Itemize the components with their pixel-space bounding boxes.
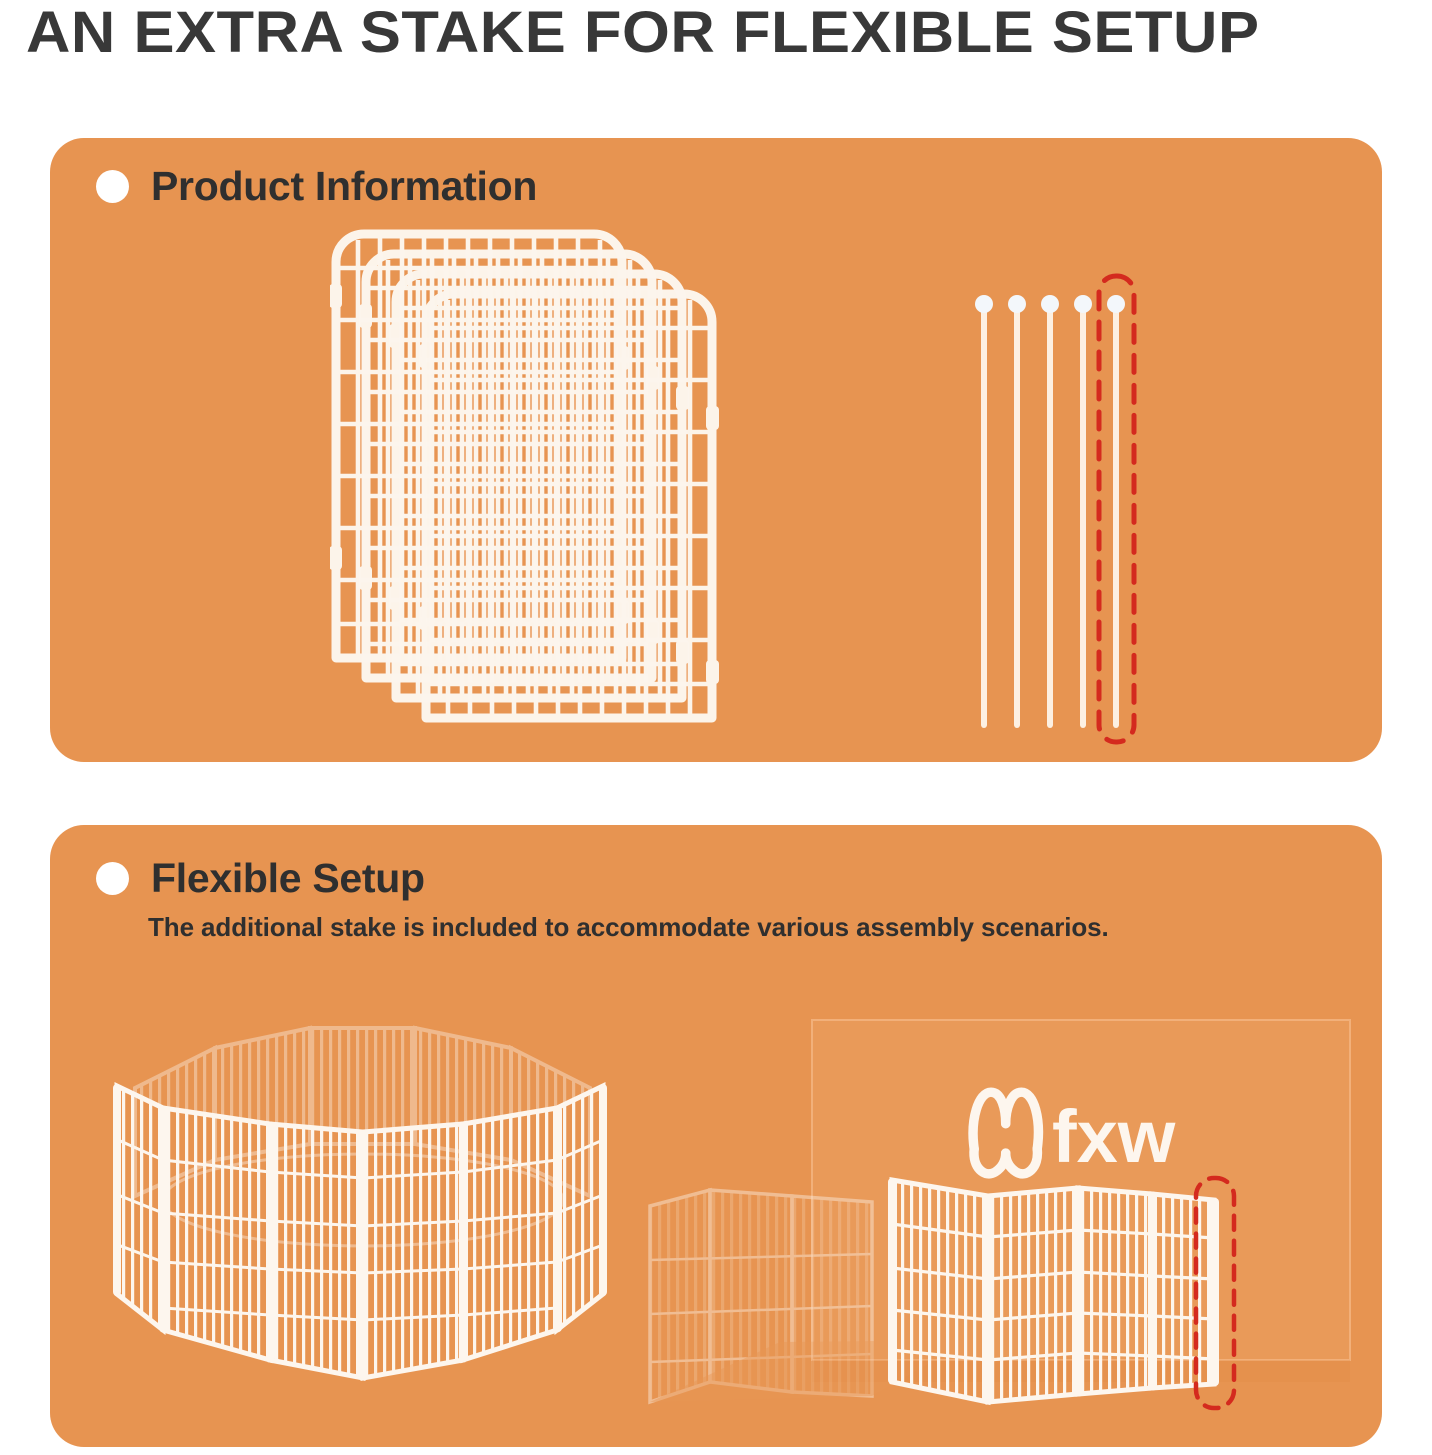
flexible-setup-title: Flexible Setup <box>151 855 425 902</box>
infographic-page: AN EXTRA STAKE FOR FLEXIBLE SETUP Produc… <box>0 0 1432 1455</box>
product-information-title: Product Information <box>151 163 537 210</box>
ground-stakes-illustration <box>955 262 1165 752</box>
wall-setup-illustration: fxw <box>640 1010 1360 1425</box>
flexible-setup-subtitle: The additional stake is included to acco… <box>148 912 1109 943</box>
product-information-heading: Product Information <box>96 163 537 210</box>
flexible-setup-heading: Flexible Setup <box>96 855 425 902</box>
bullet-dot-icon <box>96 170 129 203</box>
stacked-mesh-panels-illustration <box>330 228 730 728</box>
fxw-wordmark: fxw <box>1052 1095 1176 1178</box>
octagonal-playpen-illustration <box>95 1000 635 1415</box>
page-title: AN EXTRA STAKE FOR FLEXIBLE SETUP <box>26 2 1432 64</box>
bullet-dot-icon <box>96 862 129 895</box>
